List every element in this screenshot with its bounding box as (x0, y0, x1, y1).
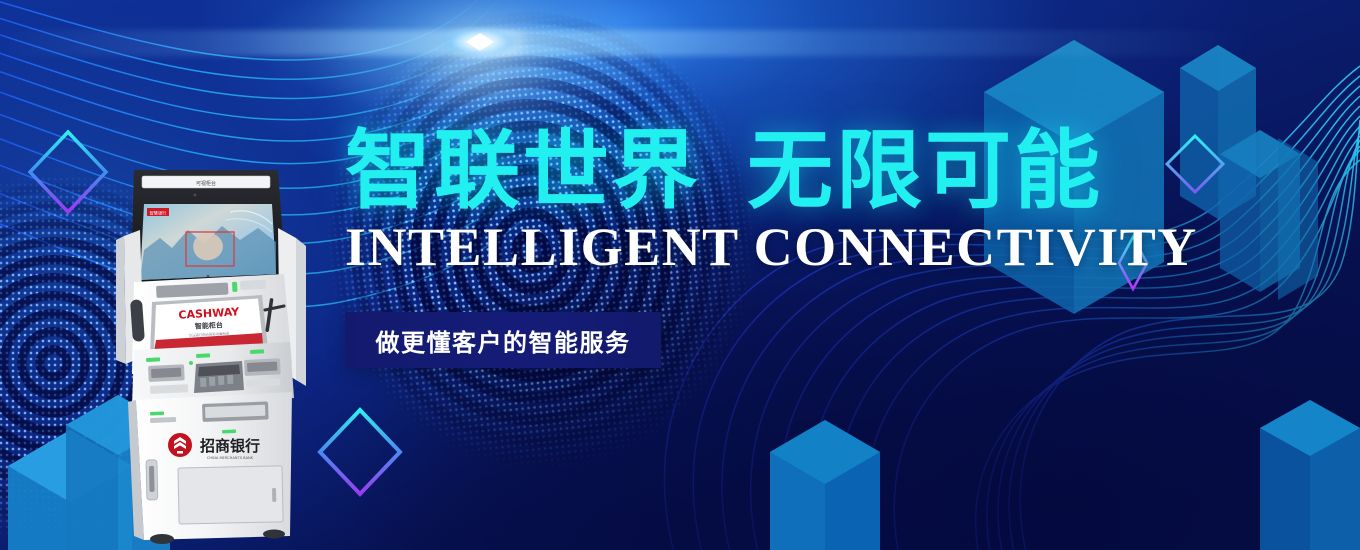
kiosk-lower-cabinet: 招商银行 CHINA MERCHANTS BANK (128, 392, 292, 540)
kiosk-bank-name-en: CHINA MERCHANTS BANK (207, 456, 254, 460)
kiosk-bank-name-cn: 招商银行 (200, 437, 260, 455)
diamond-mid (312, 404, 408, 500)
kiosk-bank-logo: 招商银行 CHINA MERCHANTS BANK (168, 433, 260, 460)
iso-block-far-right (1260, 400, 1360, 550)
tagline-text: 做更懂客户的智能服务 (376, 323, 631, 358)
iso-block-center-right (770, 420, 880, 550)
hero-copy: 智联世界无限可能 INTELLIGENT CONNECTIVITY (345, 128, 1225, 274)
hero-banner: 可视柜台 智慧银行 (0, 0, 1360, 550)
headline-cn-part2: 无限可能 (747, 121, 1103, 221)
tagline-box: 做更懂客户的智能服务 (345, 312, 661, 368)
kiosk-top-screen-label: 可视柜台 (196, 180, 216, 187)
headline-cn-part1: 智联世界 (345, 121, 701, 221)
kiosk-foot-right (263, 530, 285, 539)
iso-block-lower-right (1278, 138, 1318, 300)
kiosk-status-led (232, 282, 237, 292)
headline-chinese: 智联世界无限可能 (345, 128, 1225, 214)
kiosk-foot-left (150, 534, 174, 544)
kiosk-screen-badge: 智慧银行 (150, 209, 167, 216)
headline-english: INTELLIGENT CONNECTIVITY (345, 220, 1225, 274)
light-burst-streak (0, 30, 1360, 56)
kiosk-product-name-cn: 智能柜台 (195, 320, 223, 331)
kiosk-access-panel (178, 466, 283, 524)
kiosk-machine: 可视柜台 智慧银行 (100, 168, 315, 550)
